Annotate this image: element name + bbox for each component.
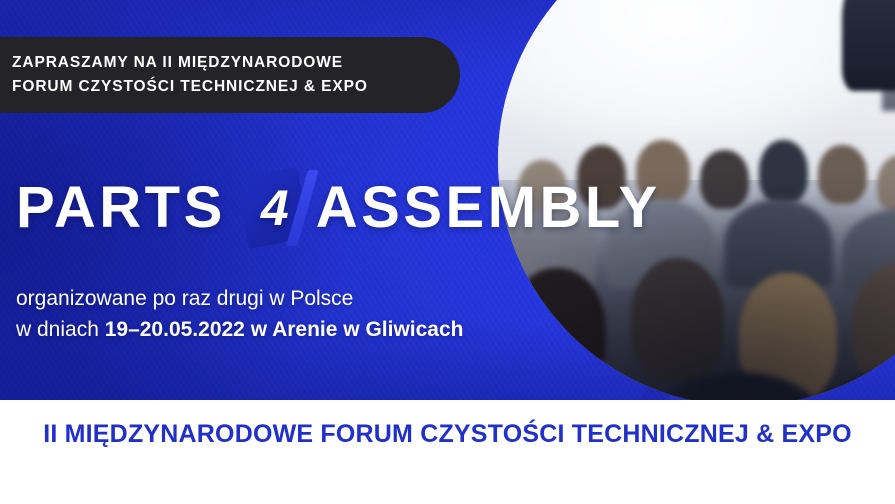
main-headline: PARTS 4 ASSEMBLY (16, 172, 661, 244)
invitation-badge: ZAPRASZAMY NA II MIĘDZYNARODOWE FORUM CZ… (0, 37, 460, 113)
photo-audience-head (631, 258, 724, 381)
badge-line-2: FORUM CZYSTOŚCI TECHNICZNEJ & EXPO (12, 75, 460, 99)
badge-line-1: ZAPRASZAMY NA II MIĘDZYNARODOWE (12, 51, 460, 75)
headline-word-parts: PARTS (16, 179, 226, 237)
four-logo-mark: 4 (236, 172, 314, 244)
bottom-title-bar: II MIĘDZYNARODOWE FORUM CZYSTOŚCI TECHNI… (0, 400, 895, 504)
subheading-date-venue: 19–20.05.2022 w Arenie w Gliwicach (105, 318, 464, 341)
subheading-line-1: organizowane po raz drugi w Polsce (16, 283, 463, 314)
photo-audience-head (759, 140, 808, 204)
four-number: 4 (261, 183, 289, 233)
subheading-prefix: w dniach (16, 318, 105, 341)
photo-audience-head (700, 150, 749, 209)
subheading-line-2: w dniach 19–20.05.2022 w Arenie w Gliwic… (16, 314, 463, 345)
bottom-bar-text: II MIĘDZYNARODOWE FORUM CZYSTOŚCI TECHNI… (43, 420, 852, 449)
event-subheading: organizowane po raz drugi w Polsce w dni… (16, 283, 463, 345)
promo-banner: ZAPRASZAMY NA II MIĘDZYNARODOWE FORUM CZ… (0, 0, 895, 504)
headline-word-assembly: ASSEMBLY (316, 179, 661, 237)
